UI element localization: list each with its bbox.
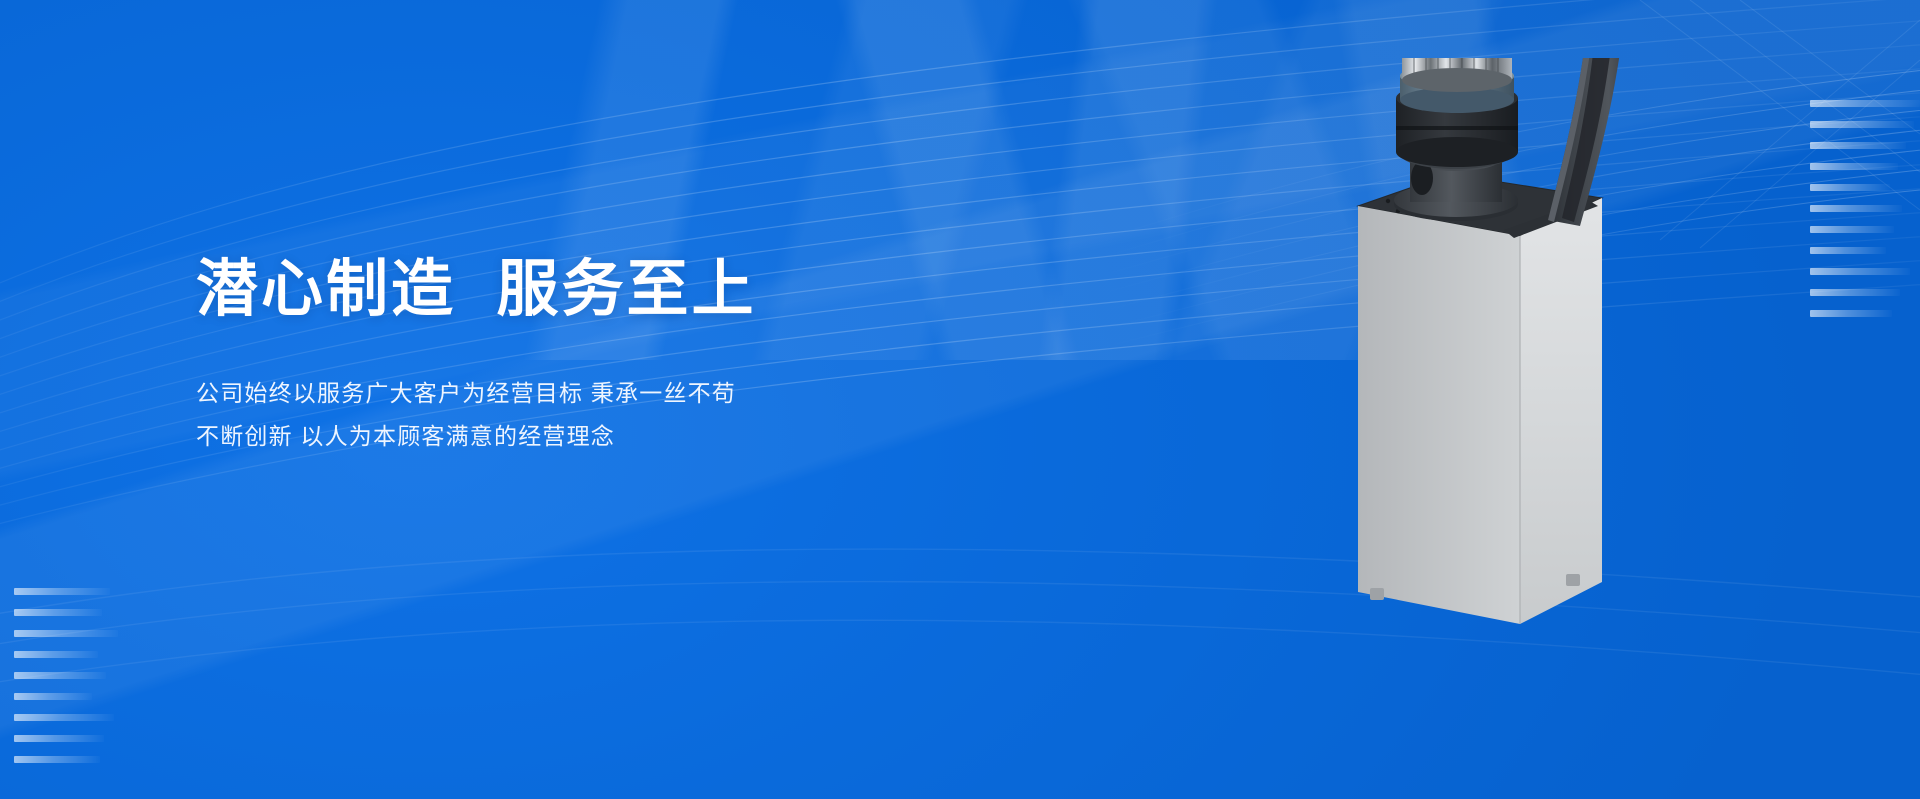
tick-bar (1810, 142, 1906, 149)
tick-bar (1810, 163, 1898, 170)
banner-subtitle-line-1: 公司始终以服务广大客户为经营目标 秉承一丝不苟 (196, 372, 956, 415)
tick-bar (14, 735, 104, 742)
tick-bar (1810, 121, 1914, 128)
tick-bar (14, 672, 106, 679)
tick-bar (14, 609, 102, 616)
motor-finned-body (1402, 58, 1512, 92)
tick-bar (1810, 100, 1920, 107)
decor-tick-bars-right (1810, 100, 1920, 331)
hero-banner: 潜心制造 服务至上 公司始终以服务广大客户为经营目标 秉承一丝不苟 不断创新 以… (0, 0, 1920, 799)
banner-headline: 潜心制造 服务至上 (196, 253, 956, 326)
pedestal-base (1358, 174, 1602, 624)
tick-bar (14, 630, 118, 637)
banner-subtitle: 公司始终以服务广大客户为经营目标 秉承一丝不苟 不断创新 以人为本顾客满意的经营… (196, 372, 956, 457)
tick-bar (1810, 247, 1886, 254)
tick-bar (14, 693, 92, 700)
tick-bar (1810, 268, 1910, 275)
product-illustration (1352, 58, 1652, 658)
tick-bar (1810, 184, 1890, 191)
decor-tick-bars-left (14, 588, 120, 777)
banner-subtitle-line-2: 不断创新 以人为本顾客满意的经营理念 (196, 415, 956, 458)
tick-bar (1810, 205, 1902, 212)
tick-bar (1810, 289, 1900, 296)
tick-bar (14, 714, 114, 721)
tick-bar (14, 651, 98, 658)
tick-bar (1810, 310, 1892, 317)
tick-bar (14, 588, 110, 595)
tick-bar (14, 756, 100, 763)
tick-bar (1810, 226, 1894, 233)
banner-copy: 潜心制造 服务至上 公司始终以服务广大客户为经营目标 秉承一丝不苟 不断创新 以… (196, 253, 956, 457)
